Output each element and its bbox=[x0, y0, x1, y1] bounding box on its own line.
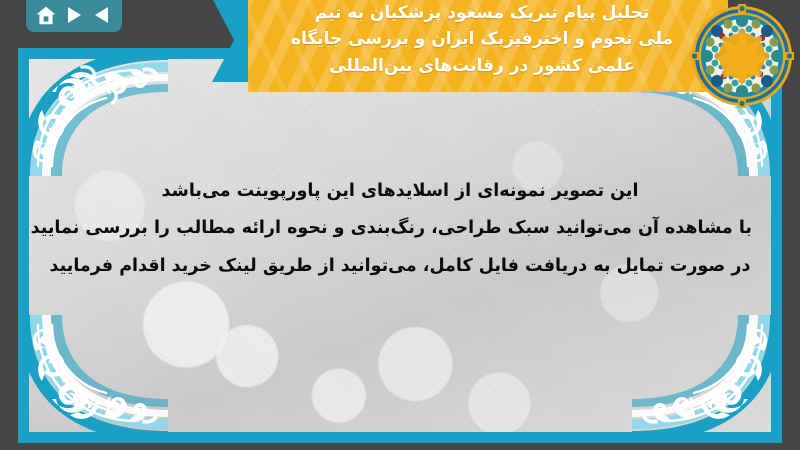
slide-canvas: این تصویر نمونه‌ای از اسلایدهای این پاور… bbox=[18, 48, 782, 443]
title-line-3: علمی کشور در رقابت‌های بین‌المللی bbox=[329, 54, 635, 79]
body-line-3: در صورت تمایل به دریافت فایل کامل، می‌تو… bbox=[48, 253, 752, 279]
body-line-2: با مشاهده آن می‌توانید سبک طراحی، رنگ‌بن… bbox=[48, 215, 752, 241]
home-icon bbox=[36, 6, 56, 25]
viewer-nav-bar bbox=[26, 0, 122, 32]
triangle-right-icon bbox=[66, 6, 82, 24]
triangle-left-icon bbox=[94, 6, 110, 24]
next-slide-button[interactable] bbox=[63, 3, 85, 27]
body-line-1: این تصویر نمونه‌ای از اسلایدهای این پاور… bbox=[48, 178, 752, 204]
title-line-1: تحلیل پیام تبریک مسعود پزشکیان به تیم bbox=[315, 1, 650, 26]
slide-body-text: این تصویر نمونه‌ای از اسلایدهای این پاور… bbox=[48, 178, 752, 279]
slide-title: تحلیل پیام تبریک مسعود پزشکیان به تیم مل… bbox=[212, 0, 728, 92]
title-line-2: ملی نجوم و اخترفیزیک ایران و بررسی جایگا… bbox=[291, 27, 673, 52]
slide-title-banner: تحلیل پیام تبریک مسعود پزشکیان به تیم مل… bbox=[212, 0, 728, 92]
home-button[interactable] bbox=[35, 3, 57, 27]
slide-viewer-stage: این تصویر نمونه‌ای از اسلایدهای این پاور… bbox=[0, 0, 800, 450]
previous-slide-button[interactable] bbox=[91, 3, 113, 27]
